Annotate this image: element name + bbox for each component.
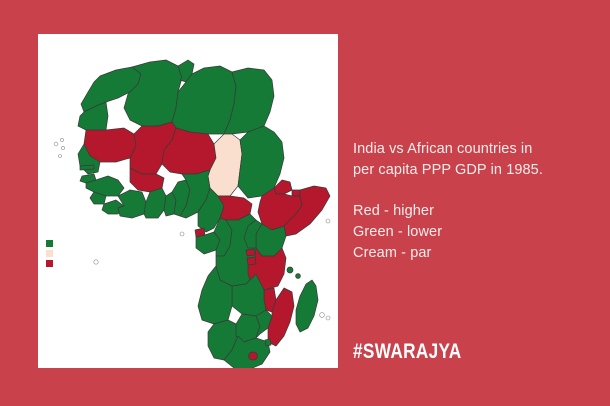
brand-hashtag: #SWARAJYA <box>353 340 462 364</box>
island-mauritius <box>320 313 325 318</box>
map-mini-legend <box>46 240 56 270</box>
island-seychelles <box>326 219 330 223</box>
country-rwanda <box>246 249 255 256</box>
legend-item-red: Red - higher <box>353 201 593 222</box>
country-comoros-island-1 <box>287 267 293 273</box>
headline-line-2: per capita PPP GDP in 1985. <box>353 160 593 181</box>
island-saint-helena <box>94 260 98 264</box>
island-canary <box>59 155 62 158</box>
red-swatch <box>46 260 53 267</box>
island-sao-tome <box>180 232 184 236</box>
country-comoros-island-2 <box>296 274 301 279</box>
legend-item-green: Green - lower <box>353 222 593 243</box>
country-djibouti <box>292 190 300 196</box>
green-swatch <box>46 240 53 247</box>
country-burundi <box>247 257 256 265</box>
map-panel <box>38 34 338 368</box>
island-cape-verde-3 <box>61 146 64 149</box>
country-madagascar <box>296 280 318 332</box>
infographic-canvas: India vs African countries in per capita… <box>0 0 610 406</box>
africa-choropleth-map <box>38 34 338 368</box>
country-lesotho <box>249 352 258 360</box>
text-column: India vs African countries in per capita… <box>353 139 593 264</box>
legend-list: Red - higher Green - lower Cream - par <box>353 201 593 264</box>
country-ghana <box>144 188 166 218</box>
island-cape-verde-2 <box>60 138 63 141</box>
legend-item-cream: Cream - par <box>353 243 593 264</box>
country-gambia <box>80 165 94 170</box>
headline-line-1: India vs African countries in <box>353 139 593 160</box>
island-reunion <box>326 316 330 320</box>
cream-swatch <box>46 250 53 257</box>
country-ivory-coast <box>118 190 146 218</box>
country-eswatini <box>265 339 271 346</box>
island-cape-verde-1 <box>54 142 58 146</box>
